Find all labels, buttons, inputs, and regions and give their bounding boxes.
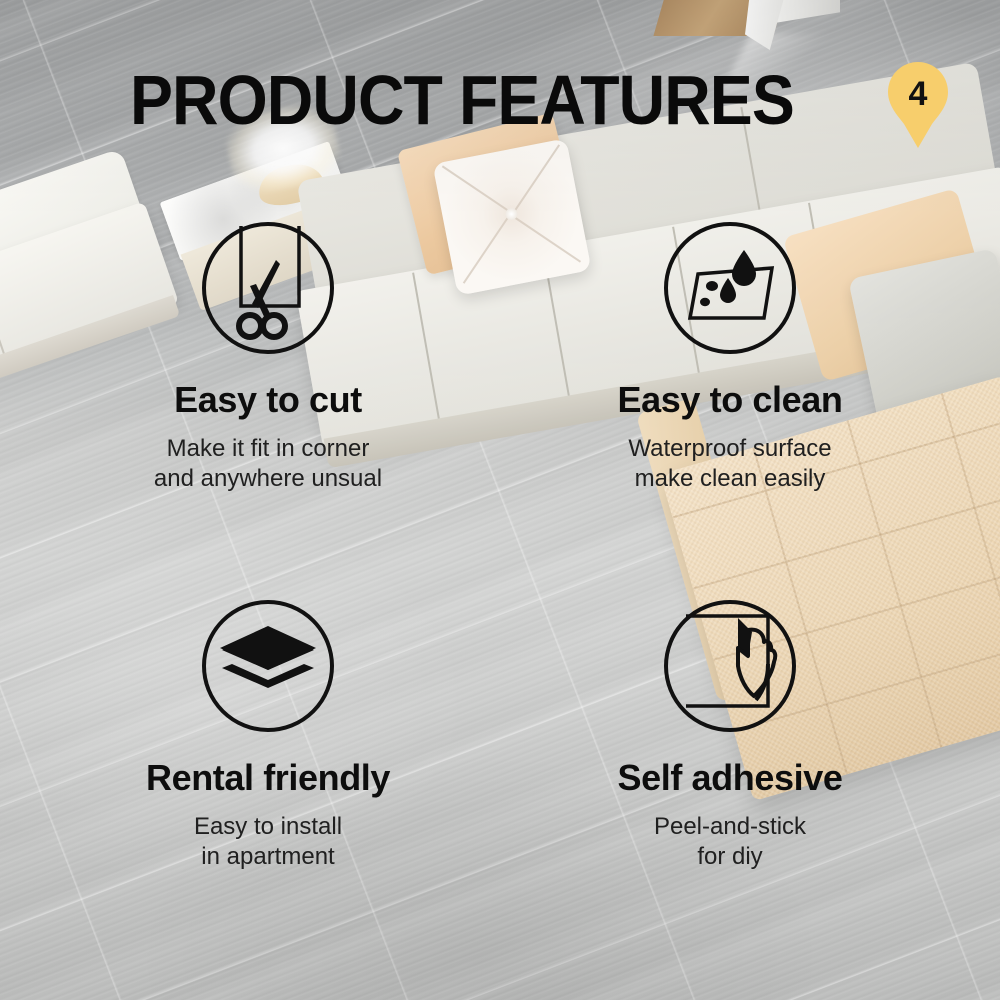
- feature-subtitle: Peel-and-stick for diy: [530, 812, 930, 872]
- feature-subtitle-line2: in apartment: [68, 842, 468, 872]
- feature-count-badge: 4: [888, 62, 948, 148]
- feature-title: Easy to cut: [68, 378, 468, 422]
- feature-subtitle-line2: make clean easily: [530, 464, 930, 494]
- layers-stack-icon: [202, 600, 334, 732]
- feature-title: Rental friendly: [68, 756, 468, 800]
- feature-subtitle-line2: and anywhere unsual: [68, 464, 468, 494]
- scissors-cut-plank-icon: [202, 222, 334, 354]
- feature-subtitle-line2: for diy: [530, 842, 930, 872]
- page-title: PRODUCT FEATURES: [130, 62, 794, 138]
- feature-subtitle: Make it fit in corner and anywhere unsua…: [68, 434, 468, 494]
- feature-subtitle: Easy to install in apartment: [68, 812, 468, 872]
- badge-number: 4: [888, 72, 948, 116]
- feature-title: Self adhesive: [530, 756, 930, 800]
- header: PRODUCT FEATURES: [0, 62, 1000, 138]
- feature-easy-to-clean: Easy to clean Waterproof surface make cl…: [530, 222, 930, 494]
- feature-self-adhesive: Self adhesive Peel-and-stick for diy: [530, 600, 930, 872]
- feature-subtitle: Waterproof surface make clean easily: [530, 434, 930, 494]
- feature-easy-to-cut: Easy to cut Make it fit in corner and an…: [68, 222, 468, 494]
- feature-rental-friendly: Rental friendly Easy to install in apart…: [68, 600, 468, 872]
- feature-subtitle-line1: Waterproof surface: [530, 434, 930, 464]
- infographic-canvas: PRODUCT FEATURES 4 Easy to cut Make it f…: [0, 0, 1000, 1000]
- feature-subtitle-line1: Peel-and-stick: [530, 812, 930, 842]
- feature-title: Easy to clean: [530, 378, 930, 422]
- waterproof-surface-droplets-icon: [664, 222, 796, 354]
- feature-subtitle-line1: Easy to install: [68, 812, 468, 842]
- feature-subtitle-line1: Make it fit in corner: [68, 434, 468, 464]
- hand-peel-plank-icon: [664, 600, 796, 732]
